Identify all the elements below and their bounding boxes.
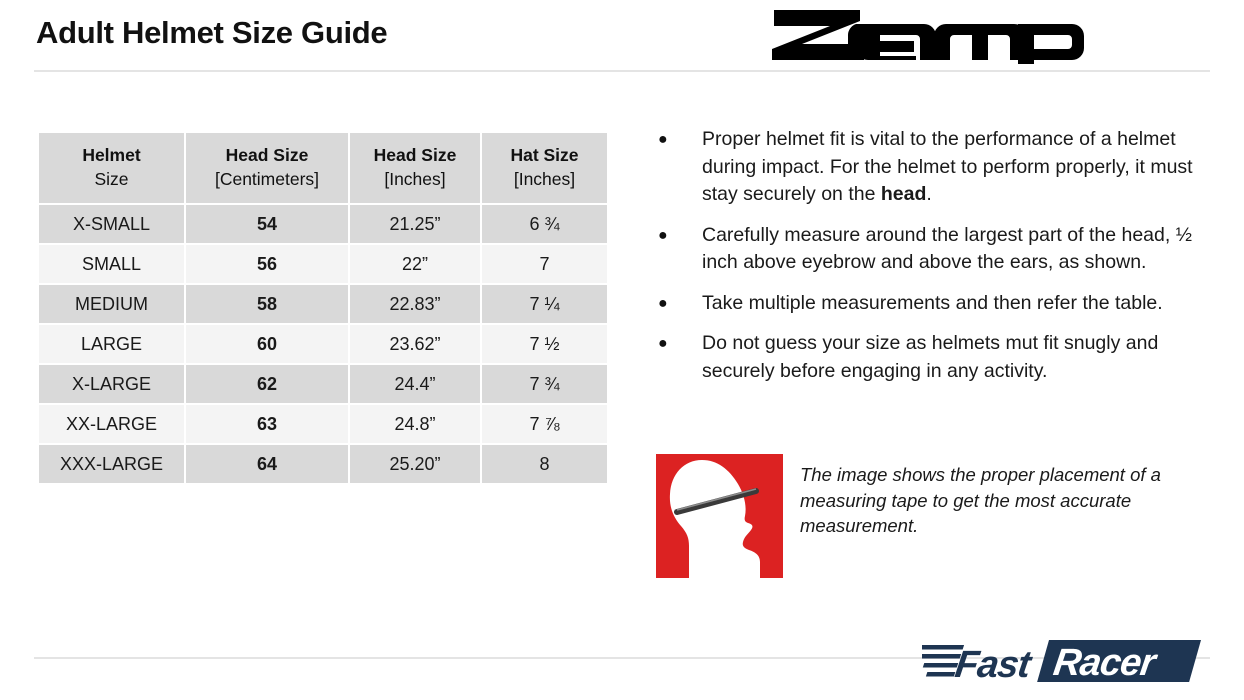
- cell-helmet-size: XX-LARGE: [39, 405, 184, 443]
- list-item-text: Do not guess your size as helmets mut fi…: [702, 330, 1210, 385]
- list-item-text-bold: head: [881, 183, 927, 205]
- cell-head-in: 25.20”: [350, 445, 480, 483]
- cell-hat-in: 7 ⅞: [482, 405, 607, 443]
- list-item-text-after: .: [926, 183, 931, 205]
- cell-head-cm: 54: [186, 205, 348, 243]
- cell-head-in: 24.4”: [350, 365, 480, 403]
- list-item-text-before: Proper helmet fit is vital to the perfor…: [702, 128, 1193, 205]
- cell-head-in: 22.83”: [350, 285, 480, 323]
- table-row: XXX-LARGE 64 25.20” 8: [39, 445, 607, 483]
- cell-hat-in: 6 ¾: [482, 205, 607, 243]
- bullet-icon: ●: [650, 330, 702, 385]
- column-header-title: Hat Size: [510, 145, 578, 165]
- column-header-head-size-cm: Head Size [Centimeters]: [186, 133, 348, 203]
- column-header-title: Head Size: [374, 145, 457, 165]
- cell-head-in: 21.25”: [350, 205, 480, 243]
- table-row: XX-LARGE 63 24.8” 7 ⅞: [39, 405, 607, 443]
- list-item: ● Proper helmet fit is vital to the perf…: [650, 126, 1210, 209]
- page-header: Adult Helmet Size Guide: [0, 0, 1244, 72]
- cell-head-cm: 56: [186, 245, 348, 283]
- column-header-unit: [Centimeters]: [186, 168, 348, 192]
- zamp-logo: [772, 6, 1084, 64]
- table-body: X-SMALL 54 21.25” 6 ¾ SMALL 56 22” 7 MED…: [39, 205, 607, 483]
- cell-head-in: 22”: [350, 245, 480, 283]
- list-item: ● Carefully measure around the largest p…: [650, 222, 1210, 277]
- column-header-unit: [Inches]: [350, 168, 480, 192]
- table-header-row: Helmet Size Head Size [Centimeters] Head…: [39, 133, 607, 203]
- image-caption: The image shows the proper placement of …: [800, 462, 1212, 539]
- table-row: X-SMALL 54 21.25” 6 ¾: [39, 205, 607, 243]
- cell-head-cm: 60: [186, 325, 348, 363]
- cell-hat-in: 8: [482, 445, 607, 483]
- svg-text:Racer: Racer: [1051, 641, 1161, 684]
- table-row: SMALL 56 22” 7: [39, 245, 607, 283]
- cell-head-in: 24.8”: [350, 405, 480, 443]
- table-row: LARGE 60 23.62” 7 ½: [39, 325, 607, 363]
- bullet-icon: ●: [650, 126, 702, 209]
- cell-head-cm: 62: [186, 365, 348, 403]
- cell-helmet-size: X-LARGE: [39, 365, 184, 403]
- table-row: X-LARGE 62 24.4” 7 ¾: [39, 365, 607, 403]
- fastracer-logo[interactable]: Fast Racer: [922, 633, 1212, 691]
- cell-head-in: 23.62”: [350, 325, 480, 363]
- column-header-hat-size-in: Hat Size [Inches]: [482, 133, 607, 203]
- svg-text:Fast: Fast: [953, 643, 1036, 686]
- bullet-icon: ●: [650, 290, 702, 318]
- list-item: ● Do not guess your size as helmets mut …: [650, 330, 1210, 385]
- cell-hat-in: 7: [482, 245, 607, 283]
- bullet-icon: ●: [650, 222, 702, 277]
- cell-head-cm: 63: [186, 405, 348, 443]
- cell-helmet-size: LARGE: [39, 325, 184, 363]
- column-header-title: Head Size: [226, 145, 309, 165]
- cell-hat-in: 7 ¼: [482, 285, 607, 323]
- cell-helmet-size: SMALL: [39, 245, 184, 283]
- list-item-text: Take multiple measurements and then refe…: [702, 290, 1210, 318]
- cell-head-cm: 58: [186, 285, 348, 323]
- cell-hat-in: 7 ¾: [482, 365, 607, 403]
- list-item-text: Carefully measure around the largest par…: [702, 222, 1210, 277]
- column-header-unit: [Inches]: [482, 168, 607, 192]
- list-item: ● Take multiple measurements and then re…: [650, 290, 1210, 318]
- column-header-helmet-size: Helmet Size: [39, 133, 184, 203]
- header-divider: [34, 70, 1210, 72]
- page-title: Adult Helmet Size Guide: [36, 15, 387, 51]
- head-measurement-image: [656, 454, 783, 578]
- list-item-text: Proper helmet fit is vital to the perfor…: [702, 126, 1210, 209]
- helmet-size-table: Helmet Size Head Size [Centimeters] Head…: [37, 131, 609, 485]
- column-header-head-size-in: Head Size [Inches]: [350, 133, 480, 203]
- cell-helmet-size: X-SMALL: [39, 205, 184, 243]
- cell-helmet-size: MEDIUM: [39, 285, 184, 323]
- column-header-unit: Size: [39, 168, 184, 192]
- table-row: MEDIUM 58 22.83” 7 ¼: [39, 285, 607, 323]
- cell-hat-in: 7 ½: [482, 325, 607, 363]
- fit-instructions-list: ● Proper helmet fit is vital to the perf…: [650, 126, 1210, 398]
- column-header-title: Helmet: [82, 145, 140, 165]
- cell-helmet-size: XXX-LARGE: [39, 445, 184, 483]
- cell-head-cm: 64: [186, 445, 348, 483]
